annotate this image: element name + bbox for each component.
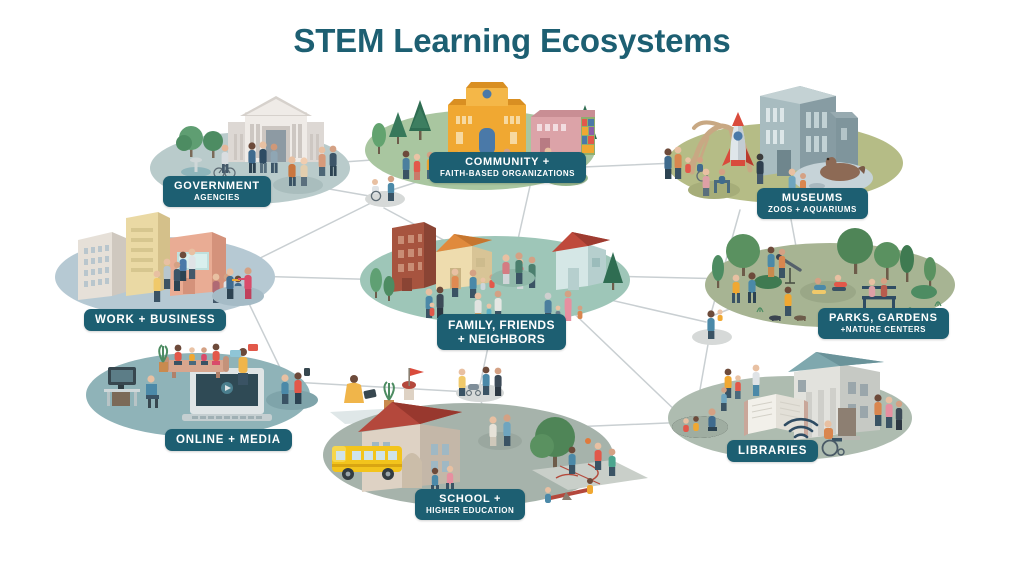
node-label-community[interactable]: COMMUNITY + FAITH-BASED ORGANIZATIONS [429, 152, 586, 183]
mural-building-icon [531, 110, 595, 155]
label-line-1: GOVERNMENT [174, 181, 260, 193]
label-line-1: WORK + BUSINESS [95, 314, 215, 326]
hub-east[interactable] [692, 309, 732, 345]
node-label-online[interactable]: ONLINE + MEDIA [165, 429, 292, 451]
person-icon [388, 176, 394, 201]
spotlight-ellipse [800, 281, 856, 303]
bush-icon [911, 285, 937, 299]
label-line-1: ONLINE + MEDIA [176, 434, 281, 446]
node-label-government[interactable]: GOVERNMENT AGENCIES [163, 176, 271, 207]
spotlight-ellipse [273, 176, 323, 194]
person-icon [344, 375, 377, 403]
office-tower-icon [78, 232, 126, 300]
label-line-1: LIBRARIES [738, 445, 807, 457]
cottage-icon [552, 232, 610, 290]
spotlight-ellipse [212, 286, 264, 306]
label-line-1: COMMUNITY + [440, 157, 575, 169]
hub-north[interactable] [365, 176, 405, 207]
node-label-school[interactable]: SCHOOL + HIGHER EDUCATION [415, 489, 525, 520]
hub-ellipse [365, 191, 405, 207]
label-line-1: FAMILY, FRIENDS [448, 319, 555, 332]
laptop-icon [182, 368, 272, 421]
stroller-family-icon [459, 367, 502, 396]
node-label-work[interactable]: WORK + BUSINESS [84, 309, 226, 331]
hub-ellipse [478, 432, 522, 450]
label-line-2: ZOOS + AQUARIUMS [768, 206, 857, 214]
label-line-1: MUSEUMS [768, 193, 857, 205]
museum-building-icon [760, 86, 858, 176]
node-label-libraries[interactable]: LIBRARIES [727, 440, 818, 462]
apartment-building-icon [392, 222, 436, 292]
spotlight-ellipse [672, 416, 728, 438]
mural-icon [581, 117, 595, 155]
label-line-1: PARKS, GARDENS [829, 313, 938, 325]
label-line-2: HIGHER EDUCATION [426, 507, 514, 515]
node-label-family[interactable]: FAMILY, FRIENDS + NEIGHBORS [437, 314, 566, 350]
node-label-museums[interactable]: MUSEUMS ZOOS + AQUARIUMS [757, 188, 868, 219]
spotlight-ellipse [266, 390, 318, 410]
label-line-2: +NATURE CENTERS [829, 326, 938, 334]
bush-icon [754, 275, 782, 289]
node-label-parks[interactable]: PARKS, GARDENS +NATURE CENTERS [818, 308, 949, 339]
label-line-2: + NEIGHBORS [448, 333, 555, 346]
museums-scene[interactable] [664, 86, 903, 203]
label-line-2: AGENCIES [174, 194, 260, 202]
community-center-icon [448, 82, 526, 155]
work-scene[interactable] [55, 212, 275, 317]
office-tower-icon [126, 212, 170, 296]
hub-ellipse [491, 269, 535, 287]
label-line-1: SCHOOL + [426, 494, 514, 506]
label-line-2: FAITH-BASED ORGANIZATIONS [440, 170, 575, 178]
person-icon [154, 271, 161, 302]
hub-south[interactable] [456, 367, 504, 402]
infographic-canvas: STEM Learning Ecosystems [0, 0, 1024, 576]
